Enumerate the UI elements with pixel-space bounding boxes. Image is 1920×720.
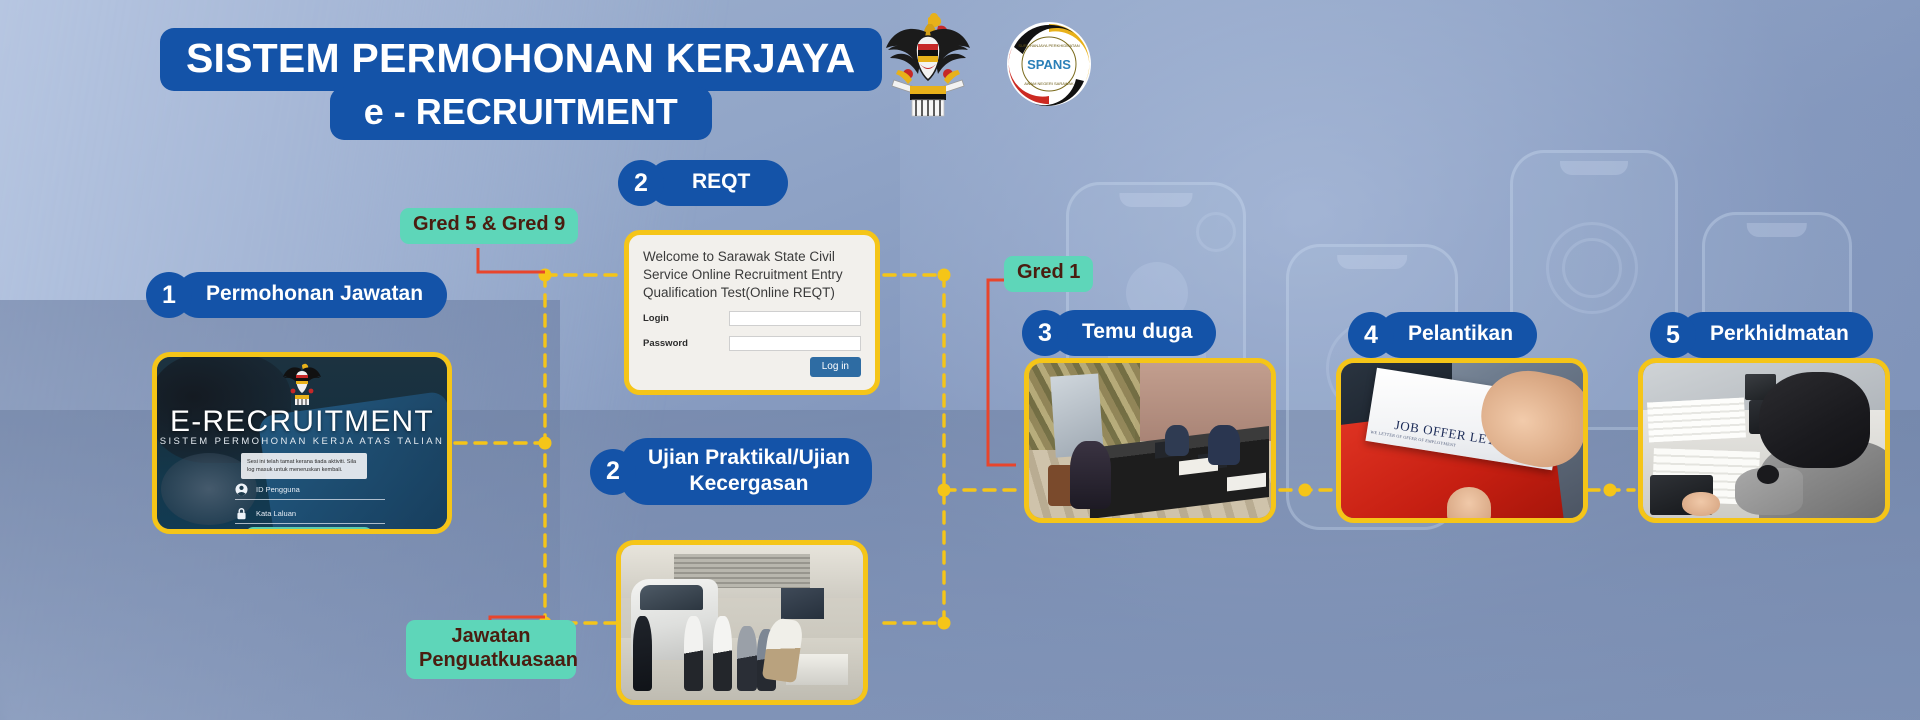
erecruitment-title: E-RECRUITMENT xyxy=(157,405,447,439)
step-5-pill[interactable]: 5 Perkhidmatan xyxy=(1650,312,1873,358)
reqt-password-label: Password xyxy=(643,338,729,349)
photo-service-wristwatch xyxy=(1757,465,1779,484)
card-photo-offer-letter[interactable]: WE LETTER OF OFFER OF EMPLOYMENT JOB OFF… xyxy=(1336,358,1588,523)
photo-offer-letter: WE LETTER OF OFFER OF EMPLOYMENT JOB OFF… xyxy=(1341,363,1583,518)
wire-note-gred1 xyxy=(988,280,1016,465)
note-jawatan-line1: Jawatan xyxy=(452,625,531,647)
photo-practical-car-window xyxy=(640,585,703,610)
page-title-line1: SISTEM PERMOHONAN KERJAYA xyxy=(160,28,882,91)
photo-practical-test xyxy=(621,545,863,700)
photo-practical-equipment xyxy=(781,588,825,619)
note-jawatan-line2: Penguatkuasaan xyxy=(419,649,578,671)
photo-practical-person-4 xyxy=(737,626,756,691)
step-2-reqt-pill[interactable]: 2 REQT xyxy=(618,160,788,206)
reqt-login-button[interactable]: Log in xyxy=(810,357,861,377)
photo-service-officer-hand xyxy=(1682,492,1721,517)
wire-node-service-in xyxy=(1604,484,1617,497)
step-2-reqt-label: REQT xyxy=(648,160,788,206)
photo-offer-thumb xyxy=(1447,487,1491,523)
note-gred-5-and-9: Gred 5 & Gred 9 xyxy=(400,208,578,244)
card-erecruitment-screenshot[interactable]: E-RECRUITMENT SISTEM PERMOHONAN KERJA AT… xyxy=(152,352,452,534)
photo-service xyxy=(1643,363,1885,518)
step-1-number: 1 xyxy=(146,272,192,318)
svg-text:AWAM NEGERI SARAWAK: AWAM NEGERI SARAWAK xyxy=(1024,81,1074,86)
card-photo-service[interactable] xyxy=(1638,358,1890,523)
wire-practical-to-merge xyxy=(884,490,944,623)
card-photo-practical-test[interactable] xyxy=(616,540,868,705)
reqt-password-input[interactable] xyxy=(729,336,861,351)
photo-service-officer-head xyxy=(1759,372,1870,468)
erecruitment-password-label: Kata Laluan xyxy=(256,509,296,518)
step-3-label: Temu duga xyxy=(1052,310,1216,356)
wire-node-merge xyxy=(938,484,951,497)
wire-node-reqt xyxy=(539,269,552,282)
photo-practical-person-1 xyxy=(633,616,652,690)
photo-interview xyxy=(1029,363,1271,518)
erecruitment-user-field[interactable]: ID Pengguna xyxy=(235,483,385,500)
spans-logo-icon: SPANS SURUHANJAYA PERKHIDMATAN AWAM NEGE… xyxy=(1006,21,1092,107)
step-3-pill[interactable]: 3 Temu duga xyxy=(1022,310,1216,356)
user-icon xyxy=(235,483,248,496)
lock-icon xyxy=(235,507,248,520)
step-2-practical-label-line1: Ujian Praktikal/Ujian xyxy=(648,446,850,469)
reqt-login-row: Login xyxy=(643,311,861,326)
reqt-login-input[interactable] xyxy=(729,311,861,326)
reqt-login-label: Login xyxy=(643,313,729,324)
note-jawatan-penguatkuasaan: Jawatan Penguatkuasaan xyxy=(406,620,576,679)
photo-interview-panelist-2 xyxy=(1208,425,1239,465)
photo-interview-panelist-1 xyxy=(1165,425,1189,456)
logo-group: SPANS SURUHANJAYA PERKHIDMATAN AWAM NEGE… xyxy=(880,8,1092,120)
photo-practical-person-3 xyxy=(713,616,732,690)
step-5-label: Perkhidmatan xyxy=(1680,312,1873,358)
erecruitment-crest-icon xyxy=(282,361,322,405)
page-title-line2: e - RECRUITMENT xyxy=(330,87,712,140)
step-4-label: Pelantikan xyxy=(1378,312,1537,358)
erecruitment-user-label: ID Pengguna xyxy=(256,485,300,494)
step-4-pill[interactable]: 4 Pelantikan xyxy=(1348,312,1537,358)
wire-node-reqt-out xyxy=(938,269,951,282)
card-photo-interview[interactable] xyxy=(1024,358,1276,523)
reqt-welcome-text: Welcome to Sarawak State Civil Service O… xyxy=(643,248,861,301)
step-1-pill[interactable]: 1 Permohonan Jawatan xyxy=(146,272,447,318)
photo-practical-person-2 xyxy=(684,616,703,690)
card-reqt-login-panel[interactable]: Welcome to Sarawak State Civil Service O… xyxy=(624,230,880,395)
wire-note-gred59 xyxy=(478,248,545,272)
step-1-label: Permohonan Jawatan xyxy=(176,272,447,318)
wire-node-split xyxy=(539,437,552,450)
step-2-practical-number: 2 xyxy=(590,449,636,495)
page-title: SISTEM PERMOHONAN KERJAYA e - RECRUITMEN… xyxy=(160,28,882,140)
erecruitment-login-button[interactable]: Log Masuk xyxy=(245,527,373,534)
reqt-password-row: Password xyxy=(643,336,861,351)
wire-node-offer-in xyxy=(1299,484,1312,497)
svg-text:SURUHANJAYA PERKHIDMATAN: SURUHANJAYA PERKHIDMATAN xyxy=(1018,43,1079,48)
sarawak-coat-of-arms-icon xyxy=(880,8,976,120)
photo-service-papers-1 xyxy=(1647,398,1746,443)
step-2-reqt-number: 2 xyxy=(618,160,664,206)
step-2-practical-label: Ujian Praktikal/Ujian Kecergasan xyxy=(620,438,872,505)
erecruitment-subtitle: SISTEM PERMOHONAN KERJA ATAS TALIAN xyxy=(157,436,447,447)
erecruitment-session-notice: Sesi ini telah tamat kerana tiada aktivi… xyxy=(241,453,367,479)
photo-interview-candidate xyxy=(1070,441,1111,509)
step-5-number: 5 xyxy=(1650,312,1696,358)
step-2-practical-label-line2: Kecergasan xyxy=(689,472,808,495)
wire-node-practical-out xyxy=(938,617,951,630)
infographic-canvas: SISTEM PERMOHONAN KERJAYA e - RECRUITMEN… xyxy=(0,0,1920,720)
erecruitment-password-field[interactable]: Kata Laluan xyxy=(235,507,385,524)
step-2-practical-pill[interactable]: 2 Ujian Praktikal/Ujian Kecergasan xyxy=(590,438,872,505)
svg-text:SPANS: SPANS xyxy=(1027,57,1071,72)
step-3-number: 3 xyxy=(1022,310,1068,356)
wire-reqt-to-merge xyxy=(884,275,944,490)
note-gred-1: Gred 1 xyxy=(1004,256,1093,292)
step-4-number: 4 xyxy=(1348,312,1394,358)
